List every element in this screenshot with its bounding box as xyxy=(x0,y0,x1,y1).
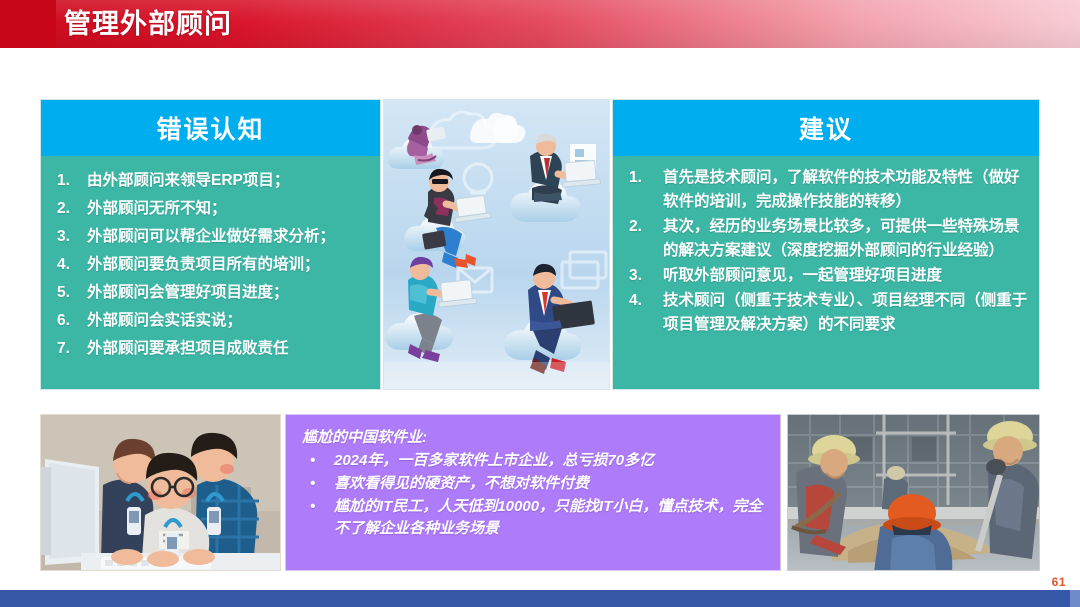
purple-panel-list: 2024年，一百多家软件上市企业，总亏损70多亿 喜欢看得见的硬资产，不想对软件… xyxy=(302,450,766,540)
list-item: 喜欢看得见的硬资产，不想对软件付费 xyxy=(302,473,766,495)
left-panel-misconceptions: 错误认知 由外部顾问来领导ERP项目； 外部顾问无所不知； 外部顾问可以帮企业做… xyxy=(40,99,381,390)
list-item: 外部顾问会管理好项目进度； xyxy=(49,282,372,304)
right-panel-body: 首先是技术顾问，了解软件的技术功能及特性（做好软件的培训，完成操作技能的转移） … xyxy=(613,156,1039,389)
list-item: 外部顾问要负责项目所有的培训； xyxy=(49,254,372,276)
team-at-computer-illustration xyxy=(40,414,281,571)
construction-workers-photo xyxy=(787,414,1040,571)
list-item: 外部顾问会实话实说； xyxy=(49,310,372,332)
cloud-illustration-svg xyxy=(384,100,610,390)
list-item-text: 技术顾问（侧重于技术专业）、项目经理不同（侧重于项目管理及解决方案）的不同要求 xyxy=(663,289,1029,337)
list-item: 其次，经历的业务场景比较多，可提供一些特殊场景的解决方案建议（深度挖掘外部顾问的… xyxy=(623,215,1029,263)
page-title: 管理外部顾问 xyxy=(64,6,232,42)
right-panel-recommendations: 建议 首先是技术顾问，了解软件的技术功能及特性（做好软件的培训，完成操作技能的转… xyxy=(612,99,1040,390)
list-item-text: 首先是技术顾问，了解软件的技术功能及特性（做好软件的培训，完成操作技能的转移） xyxy=(663,166,1029,214)
list-item: 外部顾问可以帮企业做好需求分析； xyxy=(49,226,372,248)
list-item-text: 听取外部顾问意见，一起管理好项目进度 xyxy=(663,264,1029,288)
slide-root: 管理外部顾问 错误认知 由外部顾问来领导ERP项目； 外部顾问无所不知； 外部顾… xyxy=(0,0,1080,607)
header-accent-block xyxy=(0,0,56,48)
page-number: 61 xyxy=(1052,575,1066,589)
purple-panel-title: 尴尬的中国软件业: xyxy=(302,427,766,448)
list-item-text: 其次，经历的业务场景比较多，可提供一些特殊场景的解决方案建议（深度挖掘外部顾问的… xyxy=(663,215,1029,263)
list-item: 外部顾问要承担项目成败责任 xyxy=(49,338,372,360)
cloud-computing-illustration xyxy=(383,99,610,390)
recommendation-list: 首先是技术顾问，了解软件的技术功能及特性（做好软件的培训，完成操作技能的转移） … xyxy=(623,166,1029,337)
bottom-bar-cap xyxy=(1070,590,1080,607)
list-item: 2024年，一百多家软件上市企业，总亏损70多亿 xyxy=(302,450,766,472)
bottom-bar xyxy=(0,590,1080,607)
china-software-industry-note: 尴尬的中国软件业: 2024年，一百多家软件上市企业，总亏损70多亿 喜欢看得见… xyxy=(285,414,781,571)
list-item: 首先是技术顾问，了解软件的技术功能及特性（做好软件的培训，完成操作技能的转移） xyxy=(623,166,1029,214)
slide-header: 管理外部顾问 xyxy=(0,0,1080,48)
construction-photo-svg xyxy=(788,415,1040,571)
list-item: 听取外部顾问意见，一起管理好项目进度 xyxy=(623,264,1029,288)
right-panel-heading: 建议 xyxy=(613,100,1039,156)
team-illustration-svg xyxy=(41,415,281,571)
list-item: 技术顾问（侧重于技术专业）、项目经理不同（侧重于项目管理及解决方案）的不同要求 xyxy=(623,289,1029,337)
list-item: 由外部顾问来领导ERP项目； xyxy=(49,170,372,192)
left-panel-heading: 错误认知 xyxy=(41,100,380,156)
left-panel-body: 由外部顾问来领导ERP项目； 外部顾问无所不知； 外部顾问可以帮企业做好需求分析… xyxy=(41,156,380,389)
list-item: 外部顾问无所不知； xyxy=(49,198,372,220)
list-item: 尴尬的IT民工，人天低到10000，只能找IT小白，懂点技术，完全不了解企业各种… xyxy=(302,496,766,540)
misconception-list: 由外部顾问来领导ERP项目； 外部顾问无所不知； 外部顾问可以帮企业做好需求分析… xyxy=(49,170,372,360)
